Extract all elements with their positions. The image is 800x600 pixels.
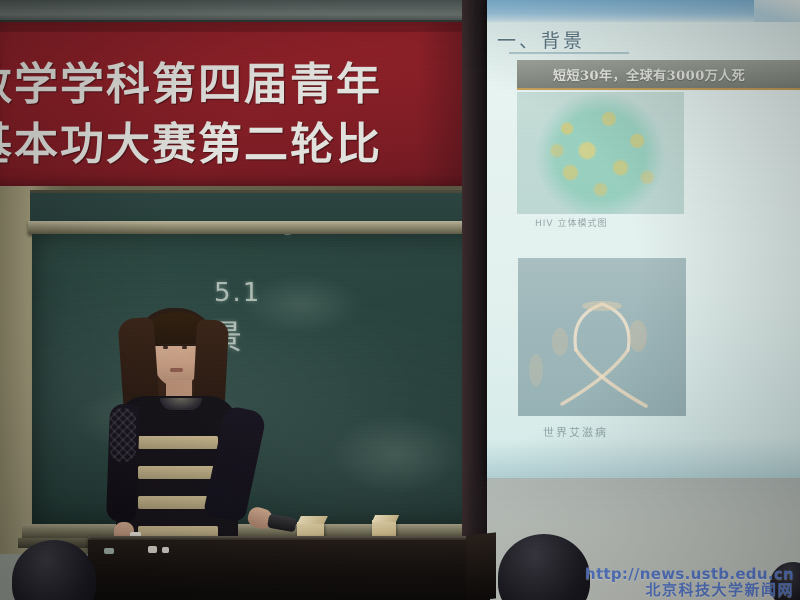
eye-right (182, 346, 187, 349)
screen-bottom-glow (487, 438, 800, 478)
presenter (108, 300, 298, 560)
chalkboard-mark: 句 (272, 234, 294, 240)
podium-small-object (162, 547, 169, 553)
banner-line-2: 基本功大赛第二轮比 (0, 108, 382, 172)
hiv-3d-model-image (517, 92, 684, 214)
blackboard-upper-panel (30, 190, 492, 225)
mouth (170, 368, 183, 372)
watermark-url: http://news.ustb.edu.cn (585, 566, 794, 582)
podium-small-object (148, 546, 157, 553)
classroom-photo: 数学学科第四届青年 基本功大赛第二轮比 5.1 景 句 一、背景 短短30年，全… (0, 0, 800, 600)
podium-small-object (104, 548, 114, 554)
presentation-clicker[interactable] (267, 514, 297, 533)
podium-side-panel (466, 532, 496, 600)
chalk-smudge (332, 414, 462, 494)
slide-title: 一、背景 (497, 26, 585, 53)
slide-top-band (487, 0, 800, 22)
lace-sleeve (110, 408, 136, 462)
eye-left (163, 346, 168, 349)
watermark-site-name: 北京科技大学新闻网 (585, 582, 794, 598)
slide-headline-banner: 短短30年，全球有3000万人死 (517, 60, 800, 90)
ceiling-strip (0, 0, 470, 24)
world-aids-day-ribbon-image (518, 258, 686, 416)
blackboard-upper-ledge (28, 221, 492, 234)
projection-screen: 一、背景 短短30年，全球有3000万人死 HIV 立体模式图 世界艾滋病 (487, 0, 800, 478)
sweater-stripe (138, 436, 218, 449)
wall-dark-strip (462, 0, 490, 560)
slide-headline-text: 短短30年，全球有3000万人死 (553, 65, 745, 84)
red-ribbon-svg (518, 258, 686, 416)
sweater-stripe (138, 466, 218, 479)
sweater-collar (160, 398, 202, 410)
competition-banner: 数学学科第四届青年 基本功大赛第二轮比 (0, 22, 478, 190)
hiv-image-caption: HIV 立体模式图 (535, 216, 607, 229)
slide-title-underline (509, 52, 629, 54)
banner-line-1: 数学学科第四届青年 (0, 48, 382, 112)
watermark: http://news.ustb.edu.cn 北京科技大学新闻网 (585, 566, 794, 598)
